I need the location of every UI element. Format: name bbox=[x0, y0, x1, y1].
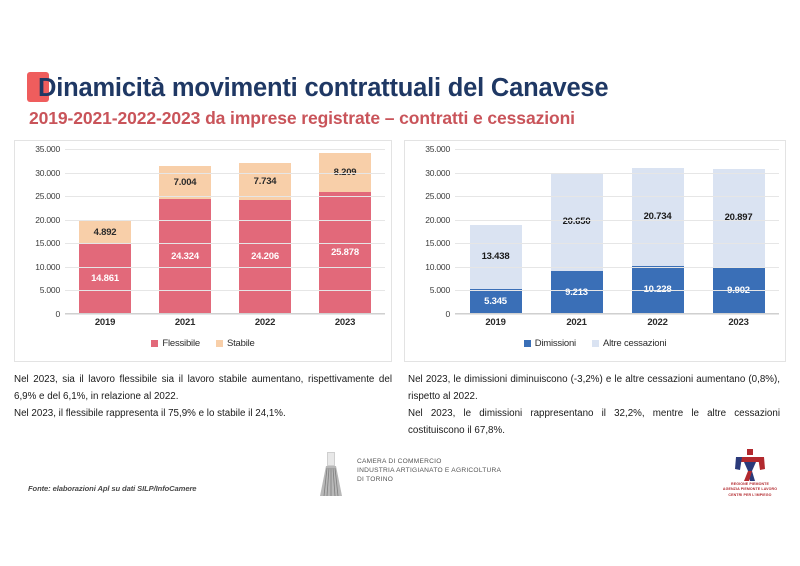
bar-segment[interactable]: 4.892 bbox=[79, 221, 131, 244]
commentary-cessazioni: Nel 2023, le dimissioni diminuiscono (-3… bbox=[408, 372, 780, 439]
legend-item[interactable]: Altre cessazioni bbox=[592, 338, 666, 349]
gridline bbox=[65, 267, 385, 268]
bar-segment[interactable]: 25.878 bbox=[319, 192, 371, 314]
y-tick-label: 10.000 bbox=[35, 262, 60, 272]
gridline bbox=[455, 314, 779, 315]
source-note: Fonte: elaborazioni Apl su dati SILP/Inf… bbox=[28, 484, 196, 493]
bar-value-label: 20.650 bbox=[563, 217, 591, 227]
y-tick-label: 10.000 bbox=[425, 262, 450, 272]
cc-line-3: DI TORINO bbox=[357, 475, 501, 484]
regione-piemonte-text: REGIONE PIEMONTE AGENZIA PIEMONTE LAVORO… bbox=[714, 482, 786, 498]
rp-line-3: CENTRI PER L'IMPIEGO bbox=[714, 493, 786, 498]
x-axis-labels-contratti: 2019202120222023 bbox=[65, 317, 385, 333]
bar-value-label: 14.861 bbox=[91, 274, 119, 284]
slide-root: Dinamicità movimenti contrattuali del Ca… bbox=[0, 0, 800, 566]
bar-value-label: 5.345 bbox=[484, 297, 507, 307]
bar-segment[interactable]: 24.324 bbox=[159, 199, 211, 314]
legend-swatch bbox=[524, 340, 531, 347]
y-tick-label: 5.000 bbox=[40, 285, 60, 295]
y-tick-label: 35.000 bbox=[425, 144, 450, 154]
page-subtitle: 2019-2021-2022-2023 da imprese registrat… bbox=[29, 108, 575, 129]
legend-contratti: FlessibileStabile bbox=[15, 335, 391, 351]
x-tick-label: 2019 bbox=[470, 317, 522, 328]
y-axis-labels-cessazioni: 05.00010.00015.00020.00025.00030.00035.0… bbox=[405, 149, 453, 314]
bar-column[interactable]: 20.8979.902 bbox=[713, 149, 765, 314]
chart-panel-cessazioni: 05.00010.00015.00020.00025.00030.00035.0… bbox=[404, 140, 786, 362]
bar-column[interactable]: 20.6509.213 bbox=[551, 149, 603, 314]
legend-label: Stabile bbox=[227, 338, 255, 349]
gridline bbox=[455, 173, 779, 174]
bars-contratti: 4.89214.8617.00424.3247.73424.2068.20925… bbox=[65, 149, 385, 314]
bar-segment[interactable]: 20.897 bbox=[713, 169, 765, 268]
regione-piemonte-logo: REGIONE PIEMONTE AGENZIA PIEMONTE LAVORO… bbox=[714, 448, 786, 496]
bar-segment[interactable]: 14.861 bbox=[79, 244, 131, 314]
y-tick-label: 15.000 bbox=[425, 238, 450, 248]
legend-item[interactable]: Dimissioni bbox=[524, 338, 576, 349]
page-title: Dinamicità movimenti contrattuali del Ca… bbox=[27, 70, 608, 106]
camera-di-commercio-logo: CAMERA DI COMMERCIO INDUSTRIA ARTIGIANAT… bbox=[313, 450, 518, 498]
bar-segment[interactable]: 20.650 bbox=[551, 173, 603, 270]
cc-line-1: CAMERA DI COMMERCIO bbox=[357, 457, 501, 466]
y-tick-label: 25.000 bbox=[35, 191, 60, 201]
gridline bbox=[65, 220, 385, 221]
gridline bbox=[455, 220, 779, 221]
commentary-contratti: Nel 2023, sia il lavoro flessibile sia i… bbox=[14, 372, 392, 423]
gridline bbox=[65, 314, 385, 315]
plot-area-contratti: 05.00010.00015.00020.00025.00030.00035.0… bbox=[15, 141, 391, 361]
legend-item[interactable]: Flessibile bbox=[151, 338, 200, 349]
y-tick-label: 0 bbox=[55, 309, 60, 319]
y-axis-labels-contratti: 05.00010.00015.00020.00025.00030.00035.0… bbox=[15, 149, 63, 314]
y-tick-label: 15.000 bbox=[35, 238, 60, 248]
bar-value-label: 24.324 bbox=[171, 252, 199, 262]
x-tick-label: 2021 bbox=[551, 317, 603, 328]
commentary-line: Nel 2023, sia il lavoro flessibile sia i… bbox=[14, 372, 392, 406]
gridline bbox=[65, 196, 385, 197]
bar-column[interactable]: 8.20925.878 bbox=[319, 149, 371, 314]
gridline bbox=[65, 173, 385, 174]
commentary-line: Nel 2023, il flessibile rappresenta il 7… bbox=[14, 406, 392, 423]
bar-column[interactable]: 7.73424.206 bbox=[239, 149, 291, 314]
gridline bbox=[455, 267, 779, 268]
bar-column[interactable]: 20.73410.228 bbox=[632, 149, 684, 314]
x-tick-label: 2022 bbox=[239, 317, 291, 328]
bar-segment[interactable]: 7.004 bbox=[159, 166, 211, 199]
gridline bbox=[65, 290, 385, 291]
grid-area-contratti: 4.89214.8617.00424.3247.73424.2068.20925… bbox=[65, 149, 385, 314]
axis-baseline bbox=[65, 313, 385, 314]
bar-column[interactable]: 13.4385.345 bbox=[470, 149, 522, 314]
axis-baseline bbox=[455, 313, 779, 314]
bars-cessazioni: 13.4385.34520.6509.21320.73410.22820.897… bbox=[455, 149, 779, 314]
y-tick-label: 20.000 bbox=[35, 215, 60, 225]
bar-segment[interactable]: 13.438 bbox=[470, 225, 522, 288]
legend-swatch bbox=[216, 340, 223, 347]
gridline bbox=[455, 149, 779, 150]
bar-value-label: 7.004 bbox=[174, 178, 197, 188]
y-tick-label: 25.000 bbox=[425, 191, 450, 201]
legend-swatch bbox=[151, 340, 158, 347]
commentary-line: Nel 2023, le dimissioni rappresentano il… bbox=[408, 406, 780, 440]
x-tick-label: 2022 bbox=[632, 317, 684, 328]
bar-value-label: 24.206 bbox=[251, 252, 279, 262]
bar-value-label: 4.892 bbox=[94, 228, 117, 238]
x-tick-label: 2021 bbox=[159, 317, 211, 328]
bar-segment[interactable]: 20.734 bbox=[632, 168, 684, 266]
camera-di-commercio-text: CAMERA DI COMMERCIO INDUSTRIA ARTIGIANAT… bbox=[357, 457, 501, 484]
y-tick-label: 30.000 bbox=[35, 168, 60, 178]
x-tick-label: 2023 bbox=[713, 317, 765, 328]
bar-segment[interactable]: 24.206 bbox=[239, 200, 291, 314]
legend-label: Flessibile bbox=[162, 338, 200, 349]
rp-line-2: AGENZIA PIEMONTE LAVORO bbox=[714, 487, 786, 492]
bar-value-label: 9.213 bbox=[565, 288, 588, 298]
y-tick-label: 5.000 bbox=[430, 285, 450, 295]
x-axis-labels-cessazioni: 2019202120222023 bbox=[455, 317, 779, 333]
bar-value-label: 13.438 bbox=[482, 252, 510, 262]
legend-swatch bbox=[592, 340, 599, 347]
cc-line-2: INDUSTRIA ARTIGIANATO E AGRICOLTURA bbox=[357, 466, 501, 475]
legend-label: Dimissioni bbox=[535, 338, 576, 349]
plot-area-cessazioni: 05.00010.00015.00020.00025.00030.00035.0… bbox=[405, 141, 785, 361]
x-tick-label: 2023 bbox=[319, 317, 371, 328]
legend-item[interactable]: Stabile bbox=[216, 338, 255, 349]
gridline bbox=[455, 243, 779, 244]
bar-segment[interactable]: 9.213 bbox=[551, 271, 603, 314]
y-tick-label: 30.000 bbox=[425, 168, 450, 178]
grid-area-cessazioni: 13.4385.34520.6509.21320.73410.22820.897… bbox=[455, 149, 779, 314]
legend-label: Altre cessazioni bbox=[603, 338, 666, 349]
bar-segment[interactable]: 5.345 bbox=[470, 289, 522, 314]
legend-cessazioni: DimissioniAltre cessazioni bbox=[405, 335, 785, 351]
bar-value-label: 25.878 bbox=[331, 248, 359, 258]
y-tick-label: 20.000 bbox=[425, 215, 450, 225]
bar-value-label: 7.734 bbox=[254, 177, 277, 187]
y-tick-label: 35.000 bbox=[35, 144, 60, 154]
gridline bbox=[455, 196, 779, 197]
chart-panel-contratti: 05.00010.00015.00020.00025.00030.00035.0… bbox=[14, 140, 392, 362]
x-tick-label: 2019 bbox=[79, 317, 131, 328]
gridline bbox=[455, 290, 779, 291]
bar-column[interactable]: 4.89214.861 bbox=[79, 149, 131, 314]
gridline bbox=[65, 149, 385, 150]
agenzia-piemonte-lavoro-icon bbox=[726, 448, 774, 482]
page-title-text: Dinamicità movimenti contrattuali del Ca… bbox=[38, 74, 608, 103]
y-tick-label: 0 bbox=[445, 309, 450, 319]
bar-value-label: 20.897 bbox=[725, 213, 753, 223]
bar-column[interactable]: 7.00424.324 bbox=[159, 149, 211, 314]
commentary-line: Nel 2023, le dimissioni diminuiscono (-3… bbox=[408, 372, 780, 406]
torre-littoria-icon bbox=[313, 450, 353, 498]
gridline bbox=[65, 243, 385, 244]
bar-segment[interactable]: 7.734 bbox=[239, 163, 291, 199]
